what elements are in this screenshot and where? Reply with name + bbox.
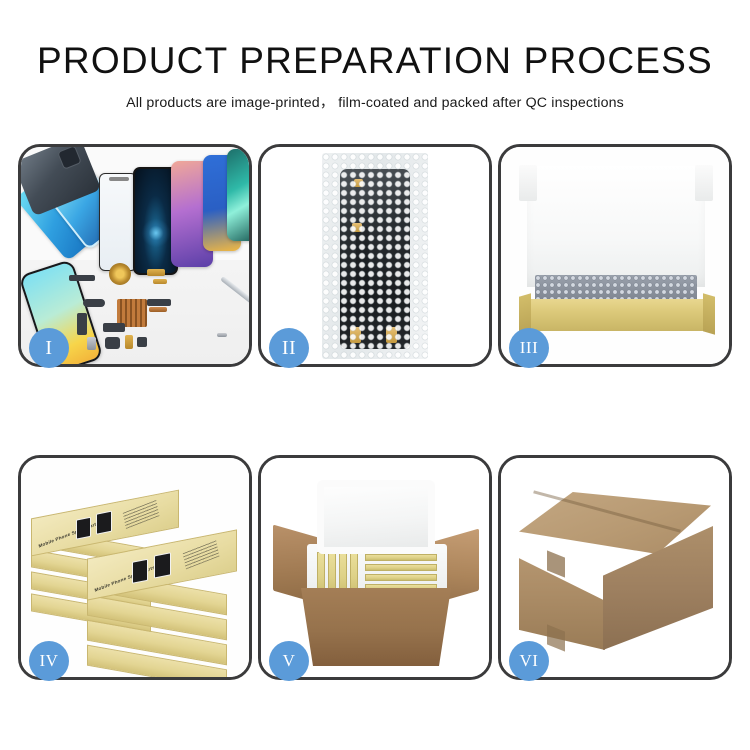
step-panel-5: V xyxy=(258,455,492,680)
bubble-wrap-bag-icon xyxy=(322,153,428,359)
inner-box-7 xyxy=(365,574,437,581)
component-screw-icon xyxy=(217,333,227,337)
box-label-text-lines-rear xyxy=(123,499,160,529)
box-label-thumb-4 xyxy=(154,552,171,578)
box-stack-icon: Mobile Phone Spare Parts Mobile Phone Sp… xyxy=(29,482,249,662)
component-module-icon xyxy=(103,323,125,332)
inner-box-6 xyxy=(365,564,437,571)
page-title: PRODUCT PREPARATION PROCESS xyxy=(0,42,750,81)
box-label-thumb-3 xyxy=(132,559,148,584)
step-badge-5: V xyxy=(269,641,309,681)
phone-teal-display-icon xyxy=(227,149,249,241)
wallpaper-glow-icon xyxy=(141,218,171,248)
step-badge-3: III xyxy=(509,328,549,368)
step-badge-6: VI xyxy=(509,641,549,681)
component-vibrator-icon xyxy=(137,337,147,347)
component-gold-flex-icon xyxy=(147,269,165,276)
box-label-thumb-1 xyxy=(76,517,91,540)
carton-body-icon xyxy=(301,588,451,666)
component-sim-tray-icon xyxy=(125,335,133,349)
inner-box-5 xyxy=(365,554,437,561)
step-badge-2: II xyxy=(269,328,309,368)
component-connector-icon xyxy=(83,299,105,307)
step-panel-6: VI xyxy=(498,455,732,680)
box-label-thumb-2 xyxy=(96,511,112,535)
product-preparation-infographic: PRODUCT PREPARATION PROCESS All products… xyxy=(0,0,750,750)
component-flex-strip-icon xyxy=(77,313,87,335)
step-panel-2: II xyxy=(258,144,492,367)
component-bar-icon xyxy=(69,275,95,281)
bubble-texture-icon xyxy=(322,153,428,359)
step-panel-1: I xyxy=(18,144,252,367)
component-gold-tab-icon xyxy=(153,279,167,284)
white-box-lid-icon xyxy=(527,165,705,287)
tempered-glass-icon xyxy=(99,173,137,271)
component-antenna-icon xyxy=(147,299,171,306)
component-camera-icon xyxy=(87,337,96,350)
component-speaker-icon xyxy=(105,337,120,349)
speaker-coil-icon xyxy=(109,263,131,285)
step-panel-4: Mobile Phone Spare Parts Mobile Phone Sp… xyxy=(18,455,252,680)
process-steps-grid: I II xyxy=(18,144,732,680)
foam-lid-icon xyxy=(317,480,435,554)
component-copper-strip-icon xyxy=(149,307,167,312)
step-badge-1: I xyxy=(29,328,69,368)
step-panel-3: III xyxy=(498,144,732,367)
box-label-text-lines-front xyxy=(183,539,220,569)
page-subtitle: All products are image-printed， film-coa… xyxy=(0,92,750,112)
yellow-box-front-icon xyxy=(523,299,711,331)
step-badge-4: IV xyxy=(29,641,69,681)
page-header: PRODUCT PREPARATION PROCESS All products… xyxy=(0,0,750,112)
